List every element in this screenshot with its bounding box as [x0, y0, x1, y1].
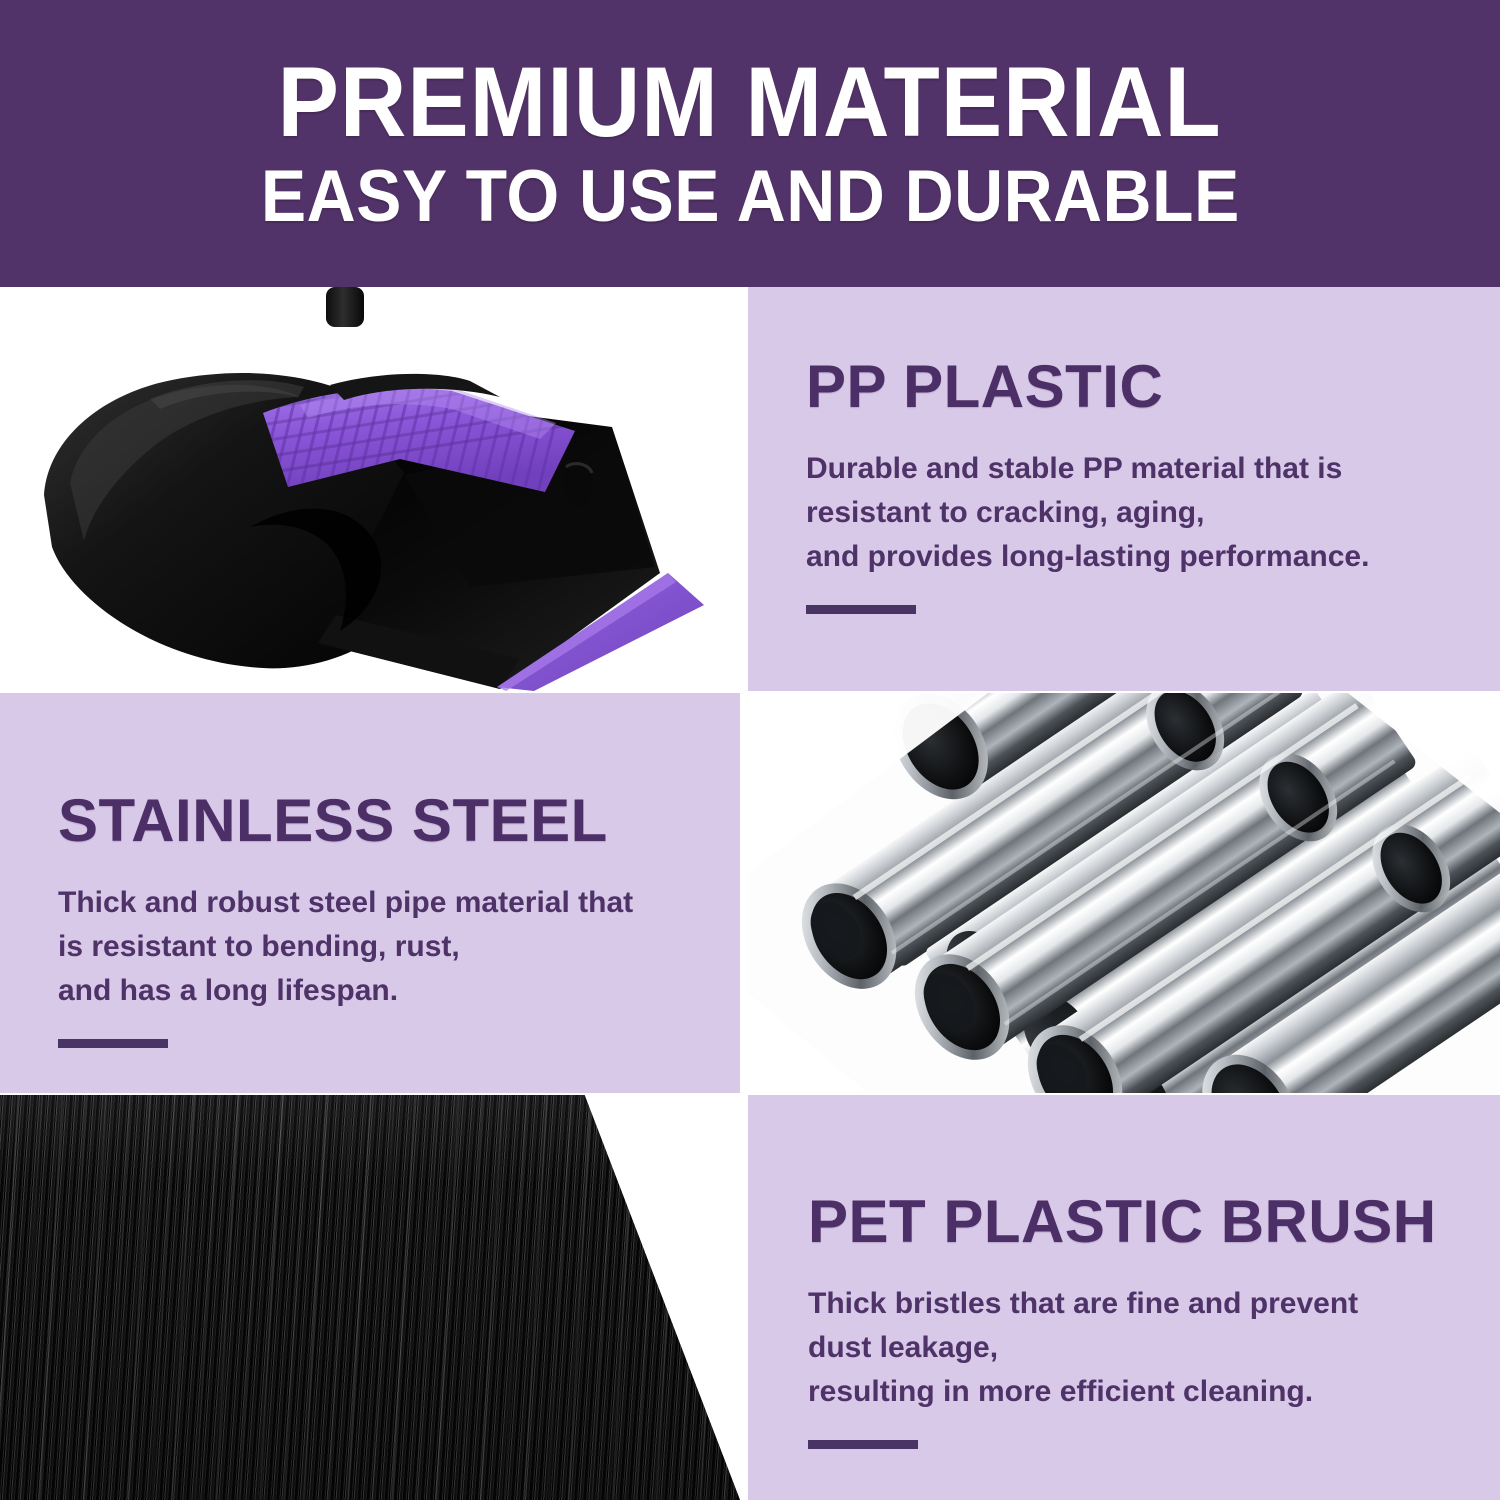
- feature-text-stainless-steel: STAINLESS STEEL Thick and robust steel p…: [58, 791, 633, 1048]
- header-banner: PREMIUM MATERIAL EASY TO USE AND DURABLE: [0, 0, 1500, 287]
- feature-image-pet-plastic-brush: [0, 1095, 740, 1500]
- feature-heading-stainless-steel: STAINLESS STEEL: [58, 791, 633, 851]
- steel-pipes-illustration: [748, 693, 1500, 1093]
- feature-image-pp-plastic: [0, 287, 740, 691]
- dustpan-illustration: [0, 287, 740, 691]
- accent-bar-pp-plastic: [806, 605, 916, 614]
- product-infographic: PREMIUM MATERIAL EASY TO USE AND DURABLE: [0, 0, 1500, 1500]
- page-title: PREMIUM MATERIAL: [278, 52, 1222, 153]
- broom-bristles-illustration: [0, 1095, 740, 1500]
- feature-heading-pet-plastic-brush: PET PLASTIC BRUSH: [808, 1192, 1437, 1252]
- feature-text-pet-plastic-brush: PET PLASTIC BRUSH Thick bristles that ar…: [808, 1192, 1437, 1449]
- feature-heading-pp-plastic: PP PLASTIC: [806, 357, 1369, 417]
- feature-body-stainless-steel: Thick and robust steel pipe material tha…: [58, 881, 633, 1013]
- feature-body-pet-plastic-brush: Thick bristles that are fine and prevent…: [808, 1282, 1437, 1414]
- feature-body-pp-plastic: Durable and stable PP material that is r…: [806, 447, 1369, 579]
- accent-bar-stainless-steel: [58, 1039, 168, 1048]
- feature-text-pp-plastic: PP PLASTIC Durable and stable PP materia…: [806, 357, 1369, 614]
- accent-bar-pet-plastic-brush: [808, 1440, 918, 1449]
- bristles-texture: [0, 1095, 740, 1500]
- page-subtitle: EASY TO USE AND DURABLE: [261, 159, 1240, 236]
- feature-image-stainless-steel: [748, 693, 1500, 1093]
